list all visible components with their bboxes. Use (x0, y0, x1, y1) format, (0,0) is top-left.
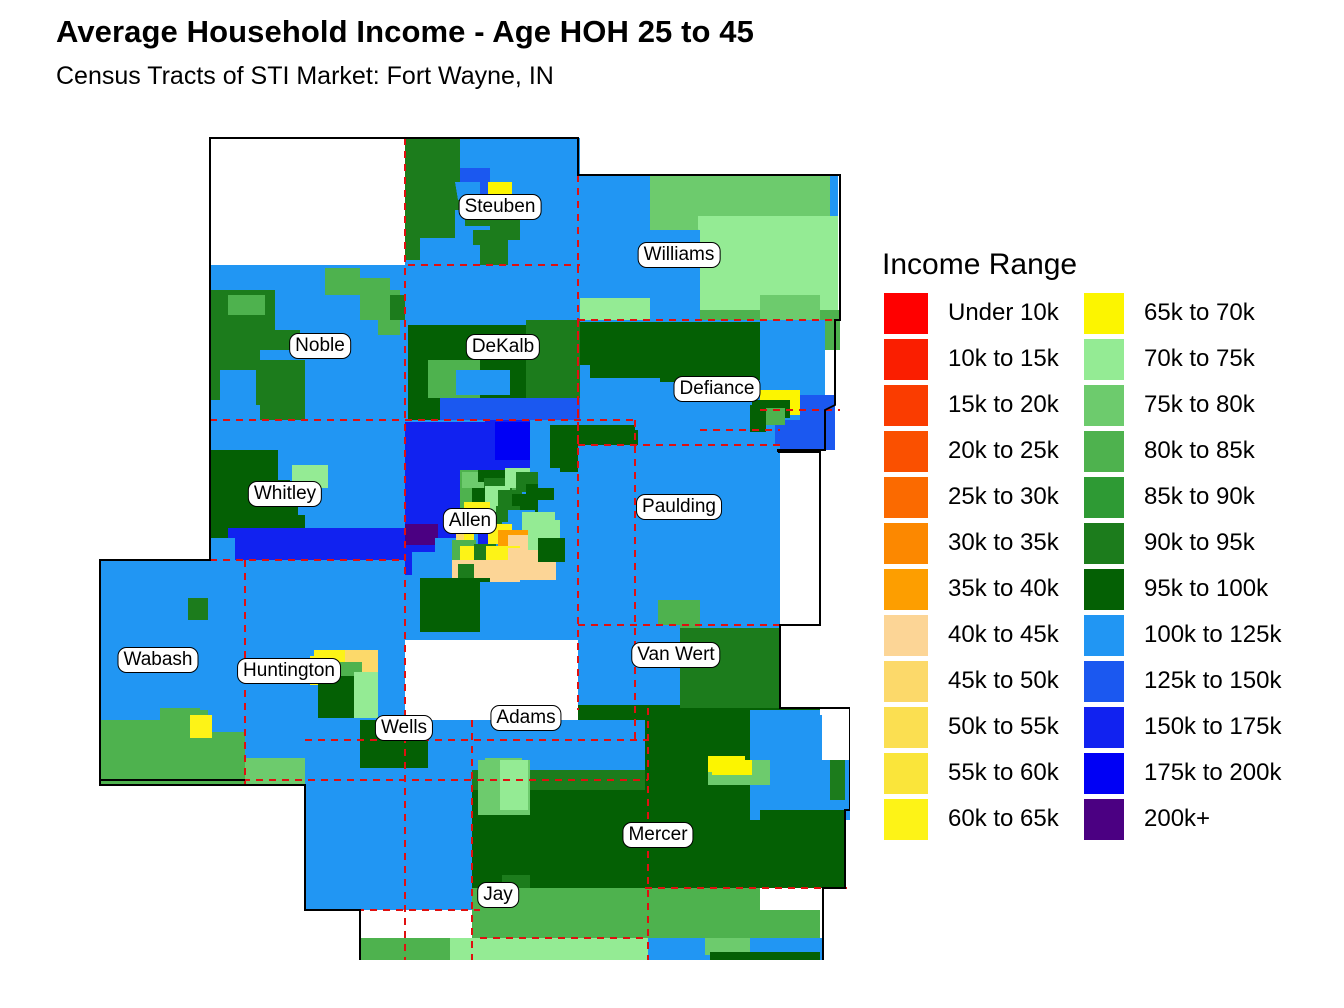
legend-swatch (1084, 569, 1124, 610)
county-mercer (648, 910, 830, 960)
legend-label: 65k to 70k (1144, 299, 1255, 327)
legend-label: 25k to 30k (948, 483, 1059, 511)
legend-label: Under 10k (948, 299, 1059, 327)
legend-label: 85k to 90k (1144, 483, 1255, 511)
legend-label: 80k to 85k (1144, 437, 1255, 465)
county-label-wells[interactable]: Wells (375, 715, 433, 741)
legend-label: 150k to 175k (1144, 713, 1281, 741)
legend-swatch (1084, 661, 1124, 702)
map-tracts (100, 138, 850, 960)
legend-swatch (884, 615, 928, 656)
map-page: Average Household Income - Age HOH 25 to… (0, 0, 1344, 1008)
county-label-paulding[interactable]: Paulding (636, 494, 722, 520)
legend-swatch (1084, 615, 1124, 656)
legend-label: 20k to 25k (948, 437, 1059, 465)
county-label-steuben[interactable]: Steuben (459, 194, 542, 220)
legend-label: 75k to 80k (1144, 391, 1255, 419)
county-label-dekalb[interactable]: DeKalb (466, 334, 540, 360)
legend-label: 10k to 15k (948, 345, 1059, 373)
county-label-adams[interactable]: Adams (490, 705, 561, 731)
legend-swatch (884, 753, 928, 794)
legend-swatch (1084, 477, 1124, 518)
legend-swatch (1084, 431, 1124, 472)
legend-swatch (1084, 523, 1124, 564)
choropleth-map[interactable]: Steuben Williams Noble DeKalb Defiance W… (60, 120, 850, 960)
county-label-jay[interactable]: Jay (477, 882, 519, 908)
legend-swatch (1084, 339, 1124, 380)
legend-label: 50k to 55k (948, 713, 1059, 741)
county-label-noble[interactable]: Noble (289, 333, 351, 359)
county-label-defiance[interactable]: Defiance (674, 376, 761, 402)
legend-swatch (884, 569, 928, 610)
legend-swatch (884, 523, 928, 564)
county-label-allen[interactable]: Allen (443, 508, 497, 534)
legend-label: 15k to 20k (948, 391, 1059, 419)
legend-swatch (884, 707, 928, 748)
legend-label: 90k to 95k (1144, 529, 1255, 557)
legend-label: 40k to 45k (948, 621, 1059, 649)
page-title: Average Household Income - Age HOH 25 to… (56, 14, 754, 50)
legend-title: Income Range (882, 248, 1077, 282)
map-svg (60, 120, 850, 960)
legend-swatch (1084, 707, 1124, 748)
legend-label: 35k to 40k (948, 575, 1059, 603)
legend-label: 55k to 60k (948, 759, 1059, 787)
legend-label: 125k to 150k (1144, 667, 1281, 695)
county-label-huntington[interactable]: Huntington (237, 658, 341, 684)
legend-swatch (1084, 753, 1124, 794)
legend-label: 175k to 200k (1144, 759, 1281, 787)
legend-swatch (1084, 293, 1124, 334)
legend-swatch (884, 799, 928, 840)
legend-swatch (884, 477, 928, 518)
county-wells (305, 720, 475, 910)
legend-swatch (884, 661, 928, 702)
legend-label: 95k to 100k (1144, 575, 1268, 603)
legend: Income Range Under 10k10k to 15k15k to 2… (878, 248, 1318, 858)
legend-swatch (884, 339, 928, 380)
legend-label: 45k to 50k (948, 667, 1059, 695)
legend-label: 70k to 75k (1144, 345, 1255, 373)
county-label-mercer[interactable]: Mercer (622, 822, 693, 848)
county-label-vanwert[interactable]: Van Wert (631, 642, 720, 668)
legend-swatch (884, 293, 928, 334)
legend-label: 60k to 65k (948, 805, 1059, 833)
page-subtitle: Census Tracts of STI Market: Fort Wayne,… (56, 62, 554, 91)
legend-label: 30k to 35k (948, 529, 1059, 557)
county-label-wabash[interactable]: Wabash (118, 647, 199, 673)
county-label-whitley[interactable]: Whitley (248, 481, 322, 507)
county-paulding (578, 445, 780, 742)
county-jay (350, 938, 648, 960)
legend-label: 100k to 125k (1144, 621, 1281, 649)
legend-swatch (884, 431, 928, 472)
legend-swatch (1084, 385, 1124, 426)
legend-swatch (884, 385, 928, 426)
legend-swatch (1084, 799, 1124, 840)
legend-label: 200k+ (1144, 805, 1210, 833)
county-label-williams[interactable]: Williams (638, 242, 721, 268)
